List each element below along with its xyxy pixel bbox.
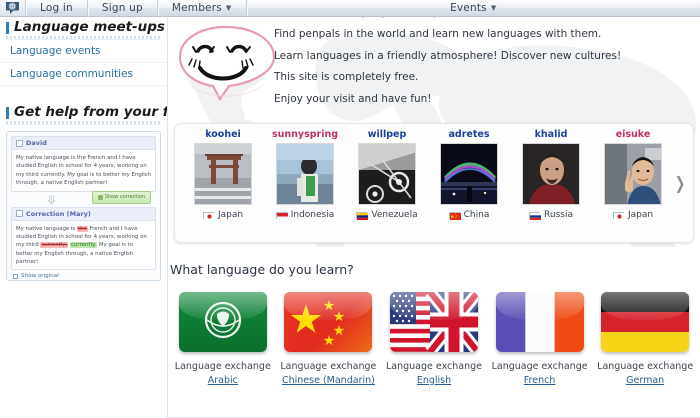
smiley-speech-bubble-icon [174, 23, 279, 105]
flag-venezuela-icon [356, 212, 367, 219]
flag-china-icon [449, 212, 460, 219]
chevron-down-icon: ▼ [491, 4, 497, 12]
globe-logo-icon[interactable] [0, 0, 26, 16]
flag-china-icon[interactable] [284, 292, 372, 352]
flag-japan-icon [613, 212, 624, 219]
member-country-label: Japan [628, 210, 653, 220]
deleted-word: currently, [40, 242, 68, 248]
original-message-text: My native language is the French and I h… [16, 155, 151, 186]
chevron-down-icon: ▼ [226, 4, 232, 12]
member-card[interactable]: sunnyspring Indonesia [269, 129, 341, 220]
member-country: Russia [515, 210, 587, 220]
language-option-arabic[interactable]: Language exchange Arabic [172, 292, 274, 388]
help-from-friend-widget: David My native language is the French a… [6, 131, 161, 281]
member-card[interactable]: koohei Japan [187, 129, 259, 220]
flag-germany-icon[interactable] [601, 292, 689, 352]
nav-item-sign-up[interactable]: Sign up [88, 0, 158, 16]
language-option-english[interactable]: Language exchange English [383, 292, 485, 388]
heading-divider [6, 121, 161, 125]
original-message-header: David [11, 136, 156, 149]
hero-line-4: Enjoy your visit and have fun! [274, 87, 694, 105]
show-original-label: Show original [21, 273, 59, 279]
nav-item-members[interactable]: Members ▼ [158, 0, 247, 16]
language-link[interactable]: Chinese (Mandarin) [278, 374, 380, 388]
heading-accent-bar [6, 22, 9, 34]
member-country: China [433, 210, 505, 220]
language-prefix: Language exchange [386, 361, 482, 372]
sidebar-item-language-communities[interactable]: Language communities [0, 63, 167, 86]
language-link[interactable]: German [594, 374, 696, 388]
sidebar-heading-meetups: Language meet-ups [0, 17, 167, 35]
deleted-word: the [77, 226, 88, 232]
top-navigation-bar: Log in Sign up Members ▼ Events ▼ [0, 0, 700, 17]
flag-us-uk-icon[interactable] [390, 292, 478, 352]
flag-japan-icon [203, 212, 214, 219]
member-card[interactable]: eisuke Japan [597, 129, 669, 220]
main-content: Welcome to LanguageExchange! Find penpal… [168, 17, 700, 418]
flag-russia-icon [529, 212, 540, 219]
left-sidebar: Language meet-ups Language events Langua… [0, 17, 168, 418]
flag-france-icon[interactable] [496, 292, 584, 352]
language-caption: Language exchange Chinese (Mandarin) [278, 360, 380, 388]
nav-item-log-in[interactable]: Log in [26, 0, 88, 16]
member-username: eisuke [597, 129, 669, 140]
language-option-german[interactable]: Language exchange German [594, 292, 696, 388]
hero-section: Welcome to LanguageExchange! Find penpal… [168, 17, 700, 132]
sidebar-item-language-events[interactable]: Language events [0, 40, 167, 63]
language-link[interactable]: English [383, 374, 485, 388]
inserted-word: currently. [70, 242, 97, 248]
checkbox-icon [13, 274, 18, 279]
sidebar-heading-label: Get help from your friend [14, 104, 167, 120]
show-correction-button[interactable]: Show correction [92, 191, 151, 205]
flag-arab-league-icon[interactable] [179, 292, 267, 352]
hero-line-1: Find penpals in the world and learn new … [274, 22, 694, 40]
language-prefix: Language exchange [280, 361, 376, 372]
language-caption: Language exchange French [489, 360, 591, 388]
member-country-label: Venezuela [371, 210, 417, 220]
page-title: What language do you learn? [170, 262, 354, 277]
member-username: adretes [433, 129, 505, 140]
member-photo-man-red-hoodie[interactable] [522, 143, 580, 205]
member-photo-bw-bicycle[interactable] [358, 143, 416, 205]
avatar-icon [16, 140, 23, 147]
member-card[interactable]: willpep Venezuela [351, 129, 423, 220]
flag-indonesia-icon [276, 212, 287, 219]
member-country-label: China [464, 210, 490, 220]
member-country: Venezuela [351, 210, 423, 220]
sidebar-item-label: Language events [10, 45, 101, 57]
member-username: khalid [515, 129, 587, 140]
sidebar-item-label: Language communities [10, 68, 133, 80]
member-username: sunnyspring [269, 129, 341, 140]
avatar-icon [16, 210, 23, 217]
correction-icon [98, 195, 103, 200]
correction-message-header: Correction (Mary) [11, 207, 156, 220]
sidebar-heading-label: Language meet-ups [14, 19, 165, 35]
language-prefix: Language exchange [175, 361, 271, 372]
member-country: Japan [597, 210, 669, 220]
language-caption: Language exchange Arabic [172, 360, 274, 388]
member-photo-man-peace-sign[interactable] [604, 143, 662, 205]
language-option-french[interactable]: Language exchange French [489, 292, 591, 388]
language-caption: Language exchange English [383, 360, 485, 388]
language-option-chinese[interactable]: Language exchange Chinese (Mandarin) [278, 292, 380, 388]
member-username: willpep [351, 129, 423, 140]
members-carousel: koohei Japan sunnyspring Indonesia [174, 123, 694, 243]
sidebar-heading-get-help: Get help from your friend [0, 102, 167, 120]
show-original-toggle[interactable]: Show original [11, 270, 156, 279]
heading-accent-bar [6, 107, 9, 119]
language-caption: Language exchange German [594, 360, 696, 388]
member-photo-woman-outdoors[interactable] [276, 143, 334, 205]
member-country-label: Indonesia [291, 210, 335, 220]
welcome-headline: Welcome to LanguageExchange! [274, 17, 694, 18]
show-correction-label: Show correction [105, 194, 145, 202]
chevron-right-icon[interactable]: ❯ [675, 174, 686, 194]
hero-line-3: This site is completely free. [274, 65, 694, 83]
hero-line-2: Learn languages in a friendly atmosphere… [274, 44, 694, 62]
language-link[interactable]: Arabic [172, 374, 274, 388]
member-photo-torii-gate[interactable] [194, 143, 252, 205]
original-message-author: David [26, 139, 47, 147]
language-prefix: Language exchange [597, 361, 693, 372]
nav-item-label: Members [172, 2, 222, 14]
nav-item-label: Sign up [102, 2, 143, 14]
member-card[interactable]: adretes China [433, 129, 505, 220]
correction-text-before: My native language is [16, 226, 77, 232]
original-message-body: My native language is the French and I h… [11, 149, 156, 192]
member-photo-night-bridge[interactable] [440, 143, 498, 205]
member-card-list: koohei Japan sunnyspring Indonesia [175, 124, 693, 220]
member-country-label: Russia [544, 210, 573, 220]
hero-text-block: Welcome to LanguageExchange! Find penpal… [274, 17, 694, 108]
member-card[interactable]: khalid Russia [515, 129, 587, 220]
hero-line-3-text: This site is completely free. [274, 71, 418, 83]
correction-message-author: Correction (Mary) [26, 210, 91, 218]
member-username: koohei [187, 129, 259, 140]
member-country: Japan [187, 210, 259, 220]
nav-item-label: Log in [40, 2, 73, 14]
language-prefix: Language exchange [492, 361, 588, 372]
nav-item-label: Events [450, 2, 487, 14]
language-options-row: Language exchange Arabic Language exchan… [172, 292, 696, 388]
member-country-label: Japan [218, 210, 243, 220]
nav-item-events[interactable]: Events ▼ [247, 0, 700, 16]
language-link[interactable]: French [489, 374, 591, 388]
member-country: Indonesia [269, 210, 341, 220]
correction-message-body: My native language is the French and I h… [11, 220, 156, 271]
